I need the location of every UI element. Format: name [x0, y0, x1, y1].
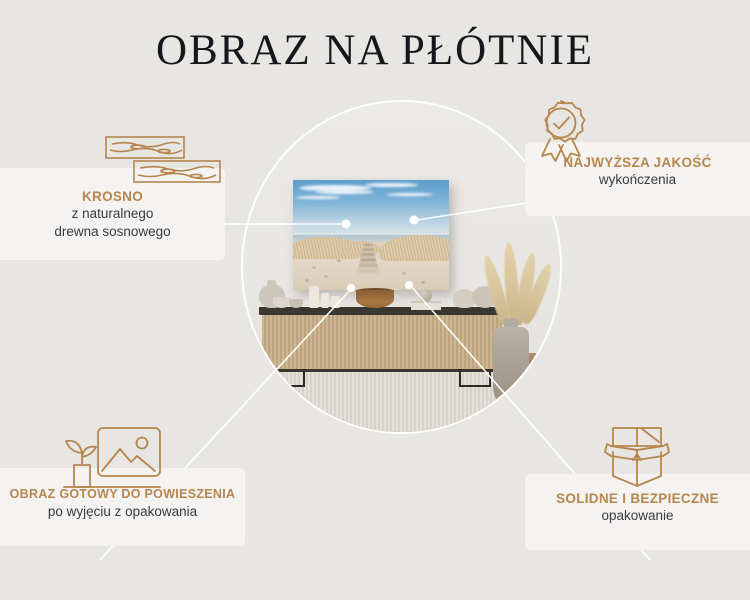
artwork-sky — [293, 180, 449, 237]
cardboard-box-icon — [597, 420, 677, 495]
framed-picture-icon — [62, 423, 174, 498]
decor-sphere — [419, 289, 432, 302]
decor-candle — [309, 286, 319, 308]
room-photo — [243, 102, 560, 432]
product-scene-circle — [243, 102, 560, 432]
feature-subtitle: z naturalnego — [0, 205, 225, 223]
decor-bowl — [273, 297, 290, 308]
decor-wooden-bowl — [356, 290, 394, 308]
feature-subtitle: drewna sosnowego — [0, 223, 225, 241]
decor-books — [411, 301, 441, 310]
decor-candle — [331, 296, 340, 308]
feature-subtitle: po wyjęciu z opakowania — [0, 503, 245, 521]
page-title: OBRAZ NA PŁÓTNIE — [0, 26, 750, 75]
floor-vase — [493, 327, 529, 407]
infographic-stage: OBRAZ NA PŁÓTNIE — [0, 0, 750, 600]
decor-bowl — [289, 299, 303, 308]
canvas-artwork — [293, 180, 449, 290]
decor-candle — [321, 293, 329, 308]
feature-subtitle: opakowanie — [525, 507, 750, 525]
sideboard — [259, 307, 505, 383]
wooden-planks-icon — [104, 133, 224, 193]
quality-badge-icon — [525, 95, 597, 176]
